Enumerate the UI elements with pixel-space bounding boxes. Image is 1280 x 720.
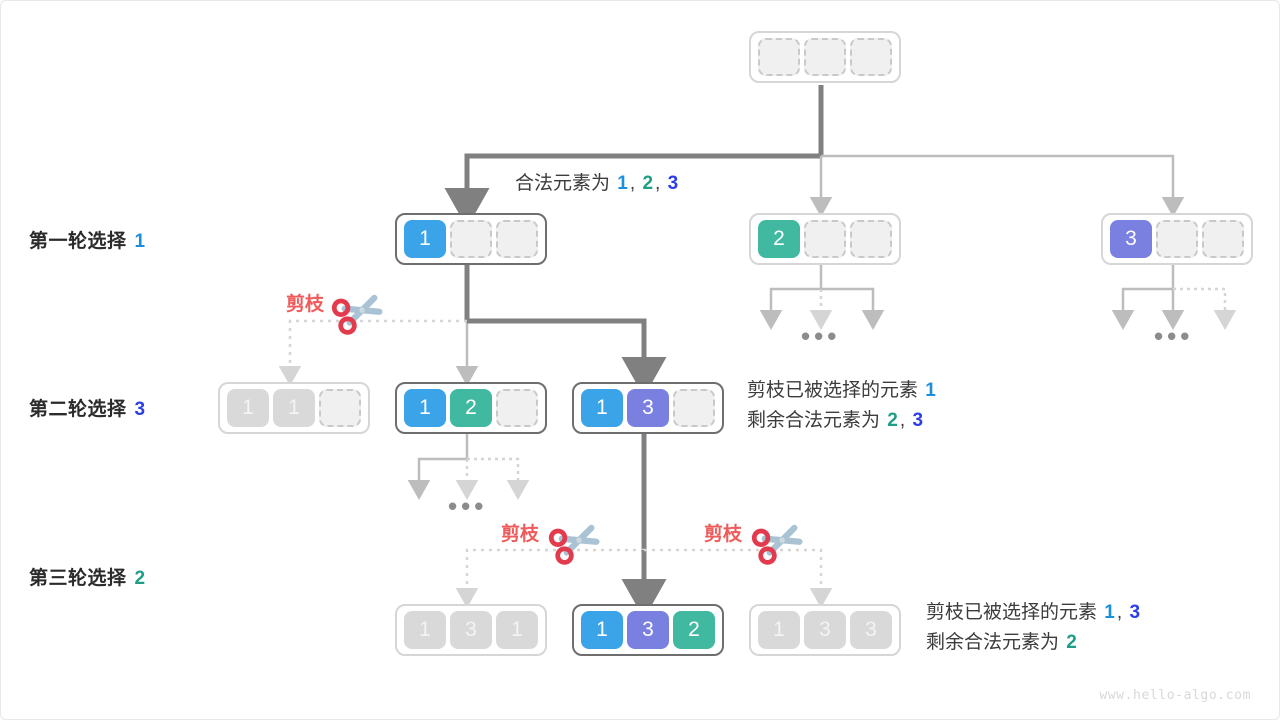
note-value: 2 (642, 173, 653, 194)
ellipsis-marker: ••• (448, 501, 487, 511)
prune-label-text: 剪枝 (704, 524, 742, 545)
ellipsis-text: ••• (1154, 321, 1193, 351)
array-cell: 1 (404, 611, 446, 649)
note-round-2: 剪枝已被选择的元素 1 剩余合法元素为 2, 3 (747, 376, 938, 436)
array-cell (319, 389, 361, 427)
row-label-round-2: 第二轮选择3 (29, 394, 146, 421)
array-cell: 3 (450, 611, 492, 649)
array-cell (1202, 220, 1244, 258)
array-cell: 3 (850, 611, 892, 649)
array-cell: 1 (227, 389, 269, 427)
note-round-3: 剪枝已被选择的元素 1, 3 剩余合法元素为 2 (926, 598, 1142, 658)
note-line: 剪枝已被选择的元素 1 (747, 376, 938, 406)
row-label-value: 2 (135, 568, 146, 589)
note-prefix: 剪枝已被选择的元素 (926, 602, 1097, 623)
row-label-text: 第三轮选择 (29, 568, 127, 589)
array-node-r3-n3: 133 (749, 604, 901, 656)
array-node-r1-n2: 2 (749, 213, 901, 265)
array-cell: 3 (804, 611, 846, 649)
note-value: 3 (912, 410, 923, 431)
array-cell: 2 (758, 220, 800, 258)
row-label-round-1: 第一轮选择1 (29, 226, 146, 253)
array-cell (804, 38, 846, 76)
ellipsis-marker: ••• (1154, 331, 1193, 341)
diagram-canvas: 第一轮选择1 第二轮选择3 第三轮选择2 合法元素为 1, 2, 3 剪枝已被选… (0, 0, 1280, 720)
array-cell: 3 (627, 389, 669, 427)
scissors-icon (549, 520, 599, 565)
wire-13-pruned-right (644, 550, 821, 597)
wire-12-fan-right (467, 459, 518, 489)
scissors-icon (752, 520, 802, 565)
wire-n1-to-13 (467, 321, 644, 375)
note-value: 3 (668, 173, 679, 194)
note-prefix: 合法元素为 (515, 173, 610, 194)
scissors-icon (332, 290, 382, 335)
array-cell: 1 (758, 611, 800, 649)
note-value: 1 (617, 173, 628, 194)
array-cell: 1 (581, 611, 623, 649)
wire-12-fan-left (419, 459, 467, 489)
note-value: 2 (1066, 632, 1077, 653)
array-cell (496, 220, 538, 258)
note-value: 1 (925, 380, 936, 401)
array-cell: 3 (627, 611, 669, 649)
row-label-text: 第一轮选择 (29, 231, 127, 252)
array-node-r2-n2: 12 (395, 382, 547, 434)
note-prefix: 剩余合法元素为 (926, 632, 1059, 653)
array-node-r1-n3: 3 (1101, 213, 1253, 265)
wire-n3-fan-left (1123, 289, 1173, 319)
array-cell: 1 (404, 389, 446, 427)
array-node-r2-n1: 11 (218, 382, 370, 434)
array-cell: 1 (581, 389, 623, 427)
array-cell (850, 220, 892, 258)
prune-label: 剪枝 (286, 289, 324, 316)
array-cell (496, 389, 538, 427)
note-line: 剩余合法元素为 2, 3 (747, 406, 938, 436)
prune-label-text: 剪枝 (501, 524, 539, 545)
prune-label-text: 剪枝 (286, 294, 324, 315)
ellipsis-marker: ••• (801, 331, 840, 341)
array-cell (758, 38, 800, 76)
array-node-r1-n1: 1 (395, 213, 547, 265)
prune-label: 剪枝 (704, 519, 742, 546)
row-label-value: 1 (135, 231, 146, 252)
wire-n1-pruned-dotted (290, 321, 467, 375)
wire-13-pruned-left (467, 550, 644, 597)
note-value: 3 (1129, 602, 1140, 623)
row-label-round-3: 第三轮选择2 (29, 563, 146, 590)
prune-label: 剪枝 (501, 519, 539, 546)
array-cell (1156, 220, 1198, 258)
array-cell: 2 (673, 611, 715, 649)
note-legal-elements: 合法元素为 1, 2, 3 (515, 169, 680, 199)
note-prefix: 剩余合法元素为 (747, 410, 880, 431)
array-node-r3-n1: 131 (395, 604, 547, 656)
wire-root-to-n3 (821, 156, 1173, 206)
array-cell: 3 (1110, 220, 1152, 258)
note-value: 1 (1104, 602, 1115, 623)
array-cell (804, 220, 846, 258)
array-cell: 1 (273, 389, 315, 427)
note-prefix: 剪枝已被选择的元素 (747, 380, 918, 401)
array-node-r3-n2: 132 (572, 604, 724, 656)
wire-n2-fan-right (821, 289, 873, 319)
note-value: 2 (887, 410, 898, 431)
array-node-r2-n3: 13 (572, 382, 724, 434)
wire-n2-fan-left (771, 289, 821, 319)
row-label-text: 第二轮选择 (29, 399, 127, 420)
array-cell (450, 220, 492, 258)
wire-n3-fan-right (1173, 289, 1225, 319)
watermark: www.hello-algo.com (1099, 688, 1251, 703)
array-cell: 1 (404, 220, 446, 258)
array-cell: 2 (450, 389, 492, 427)
row-label-value: 3 (135, 399, 146, 420)
array-cell: 1 (496, 611, 538, 649)
array-cell (850, 38, 892, 76)
note-line: 剩余合法元素为 2 (926, 628, 1142, 658)
ellipsis-text: ••• (801, 321, 840, 351)
array-cell (673, 389, 715, 427)
array-node-root (749, 31, 901, 83)
note-line: 剪枝已被选择的元素 1, 3 (926, 598, 1142, 628)
ellipsis-text: ••• (448, 491, 487, 521)
